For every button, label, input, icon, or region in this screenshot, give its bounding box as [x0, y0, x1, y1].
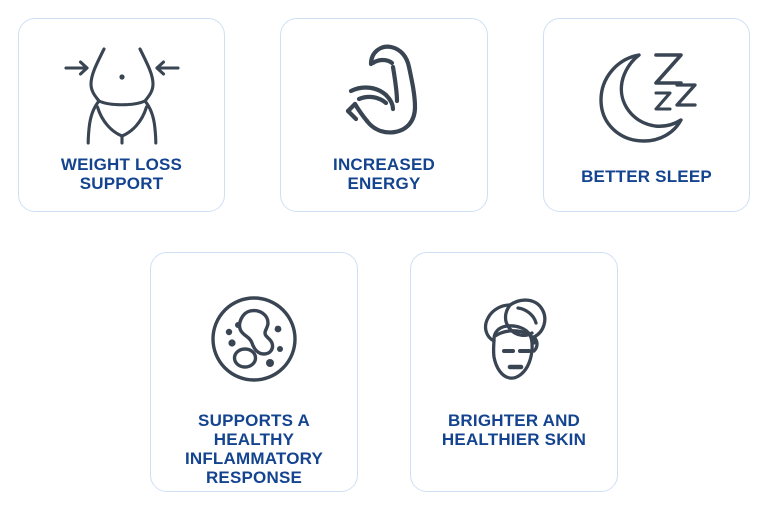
crescent-moon-zzz-icon — [544, 19, 749, 153]
flexed-bicep-icon — [281, 19, 487, 153]
benefit-card-weight-loss-support[interactable]: WEIGHT LOSS SUPPORT — [18, 18, 225, 212]
slim-waist-torso-icon — [19, 19, 224, 153]
benefit-label-brighter-healthier-skin: BRIGHTER AND HEALTHIER SKIN — [411, 411, 617, 449]
benefit-card-increased-energy[interactable]: INCREASED ENERGY — [280, 18, 488, 212]
benefit-label-increased-energy: INCREASED ENERGY — [281, 155, 487, 193]
cell-microbe-icon — [151, 253, 357, 399]
benefit-card-better-sleep[interactable]: BETTER SLEEP — [543, 18, 750, 212]
face-towel-wrap-icon — [411, 253, 617, 399]
benefit-label-healthy-inflammatory-response: SUPPORTS A HEALTHY INFLAMMATORY RESPONSE — [151, 411, 357, 487]
benefit-card-healthy-inflammatory-response[interactable]: SUPPORTS A HEALTHY INFLAMMATORY RESPONSE — [150, 252, 358, 492]
benefit-label-weight-loss-support: WEIGHT LOSS SUPPORT — [19, 155, 224, 193]
benefit-card-brighter-healthier-skin[interactable]: BRIGHTER AND HEALTHIER SKIN — [410, 252, 618, 492]
benefit-label-better-sleep: BETTER SLEEP — [544, 167, 749, 186]
benefits-card-grid: WEIGHT LOSS SUPPORT INCREAS — [0, 0, 768, 513]
